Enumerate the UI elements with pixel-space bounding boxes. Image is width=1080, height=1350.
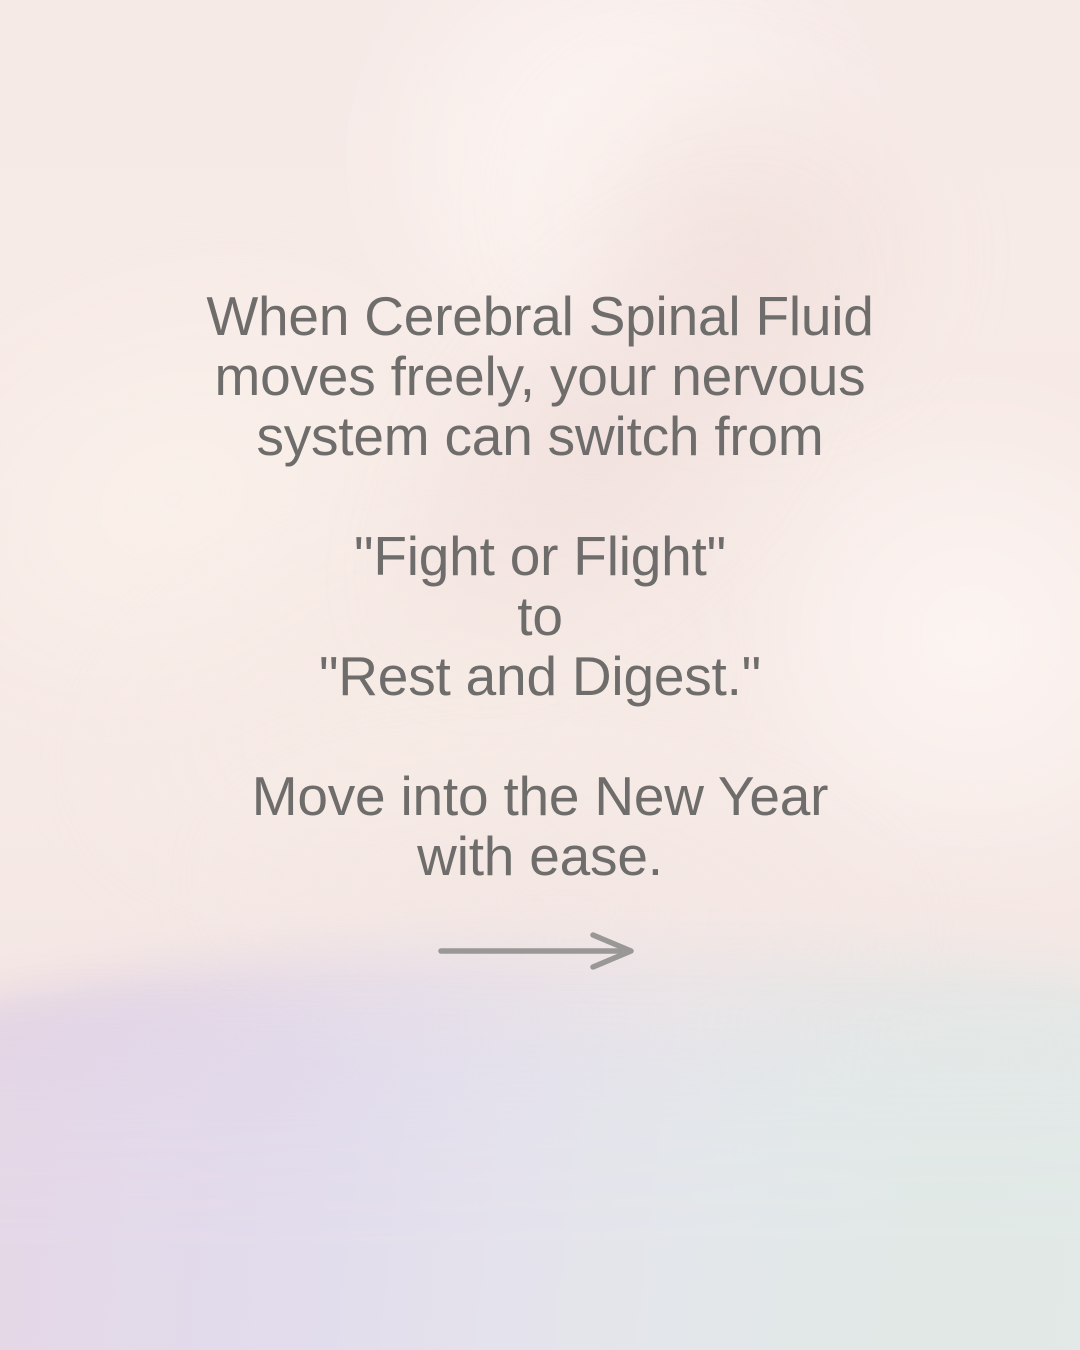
quote-line-rest-and-digest: "Rest and Digest." bbox=[100, 646, 980, 706]
quote-line-2: moves freely, your nervous bbox=[100, 346, 980, 406]
paragraph-spacer-2 bbox=[100, 706, 980, 766]
post-canvas: When Cerebral Spinal Fluid moves freely,… bbox=[0, 0, 1080, 1350]
arrow-right-icon bbox=[435, 930, 645, 970]
quote-line-to: to bbox=[100, 586, 980, 646]
quote-line-move-into-new-year: Move into the New Year bbox=[100, 766, 980, 826]
quote-paragraph-2: "Fight or Flight" to "Rest and Digest." bbox=[100, 526, 980, 706]
quote-line-with-ease: with ease. bbox=[100, 826, 980, 886]
quote-paragraph-3: Move into the New Year with ease. bbox=[100, 766, 980, 886]
quote-line-fight-or-flight: "Fight or Flight" bbox=[100, 526, 980, 586]
quote-paragraph-1: When Cerebral Spinal Fluid moves freely,… bbox=[100, 286, 980, 466]
paragraph-spacer-1 bbox=[100, 466, 980, 526]
quote-text-block: When Cerebral Spinal Fluid moves freely,… bbox=[100, 286, 980, 886]
quote-line-3: system can switch from bbox=[100, 406, 980, 466]
quote-line-1: When Cerebral Spinal Fluid bbox=[100, 286, 980, 346]
content-stack: When Cerebral Spinal Fluid moves freely,… bbox=[0, 0, 1080, 1350]
swipe-arrow[interactable] bbox=[435, 930, 645, 970]
